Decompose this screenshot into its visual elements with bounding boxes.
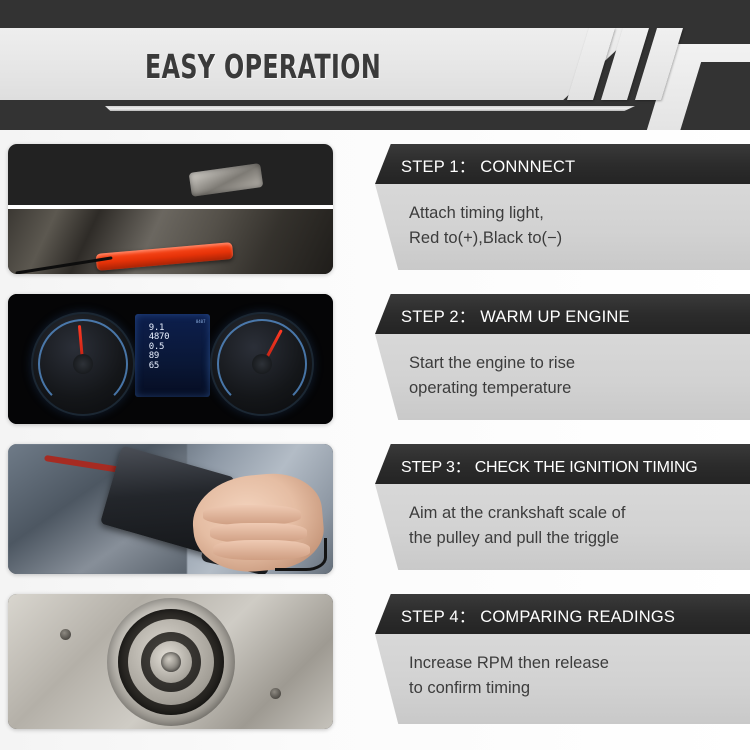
red-clamp-device-shape [95,242,232,271]
pulley-bolt-1 [60,629,71,640]
cluster-lcd-display: 0407 9.1 4870 0.5 89 65 [135,314,210,397]
tacho-hub [252,354,272,374]
crankshaft-pulley-photo [8,594,333,729]
cluster-image: 0407 9.1 4870 0.5 89 65 [8,294,333,424]
step-3-title: STEP 3： CHECK THE IGNITION TIMING [375,444,750,477]
step-row-4: STEP 4： COMPARING READINGS Increase RPM … [0,582,750,742]
step-1: STEP 1： CONNNECT Attach timing light, Re… [375,132,750,282]
finger-shape-1 [203,505,301,525]
lcd-clock: 0407 [139,319,206,324]
step-3-description: Aim at the crankshaft scale of the pulle… [409,501,625,551]
step-1-header: STEP 1： CONNNECT [375,144,750,184]
battery-clamp-and-red-device-photo [8,144,333,274]
step-2: STEP 2： WARM UP ENGINE Start the engine … [375,282,750,432]
steps-container: STEP 1： CONNNECT Attach timing light, Re… [0,130,750,750]
header-underline-rule [105,106,635,111]
page-header: EASY OPERATION [0,0,750,130]
battery-clamp-image-top [8,144,333,206]
timing-light-image [8,444,333,574]
step-2-title: STEP 2： WARM UP ENGINE [375,294,750,327]
step-1-title: STEP 1： CONNNECT [375,144,750,177]
hand-holding-timing-light-photo [8,444,333,574]
power-cord-shape [275,538,327,572]
step-row-1: STEP 1： CONNNECT Attach timing light, Re… [0,132,750,282]
step-1-description: Attach timing light, Red to(+),Black to(… [409,201,562,251]
speedometer-gauge [31,312,135,416]
step-3: STEP 3： CHECK THE IGNITION TIMING Aim at… [375,432,750,582]
step-2-header: STEP 2： WARM UP ENGINE [375,294,750,334]
instrument-cluster-photo: 0407 9.1 4870 0.5 89 65 [8,294,333,424]
speedo-hub [73,354,93,374]
step-2-body: Start the engine to rise operating tempe… [375,334,750,420]
step-4-header: STEP 4： COMPARING READINGS [375,594,750,634]
red-device-image-bottom [8,209,333,274]
step-4: STEP 4： COMPARING READINGS Increase RPM … [375,582,750,732]
step-4-title: STEP 4： COMPARING READINGS [375,594,750,627]
tachometer-gauge [210,312,314,416]
page-title: EASY OPERATION [145,47,381,86]
step-3-body: Aim at the crankshaft scale of the pulle… [375,484,750,570]
step-1-body: Attach timing light, Red to(+),Black to(… [375,184,750,270]
infographic-page: EASY OPERATION STEP 1： CONNN [0,0,750,750]
step-4-description: Increase RPM then release to confirm tim… [409,651,609,701]
pulley-bolt-2 [270,688,281,699]
clamp-jaw-shape [189,163,263,196]
step-row-2: 0407 9.1 4870 0.5 89 65 [0,282,750,432]
step-2-description: Start the engine to rise operating tempe… [409,351,575,401]
pulley-image [8,594,333,729]
lcd-readout-5: 65 [139,362,206,372]
pulley-center-bolt [161,652,181,672]
step-row-3: STEP 3： CHECK THE IGNITION TIMING Aim at… [0,432,750,582]
step-4-body: Increase RPM then release to confirm tim… [375,634,750,724]
step-3-header: STEP 3： CHECK THE IGNITION TIMING [375,444,750,484]
